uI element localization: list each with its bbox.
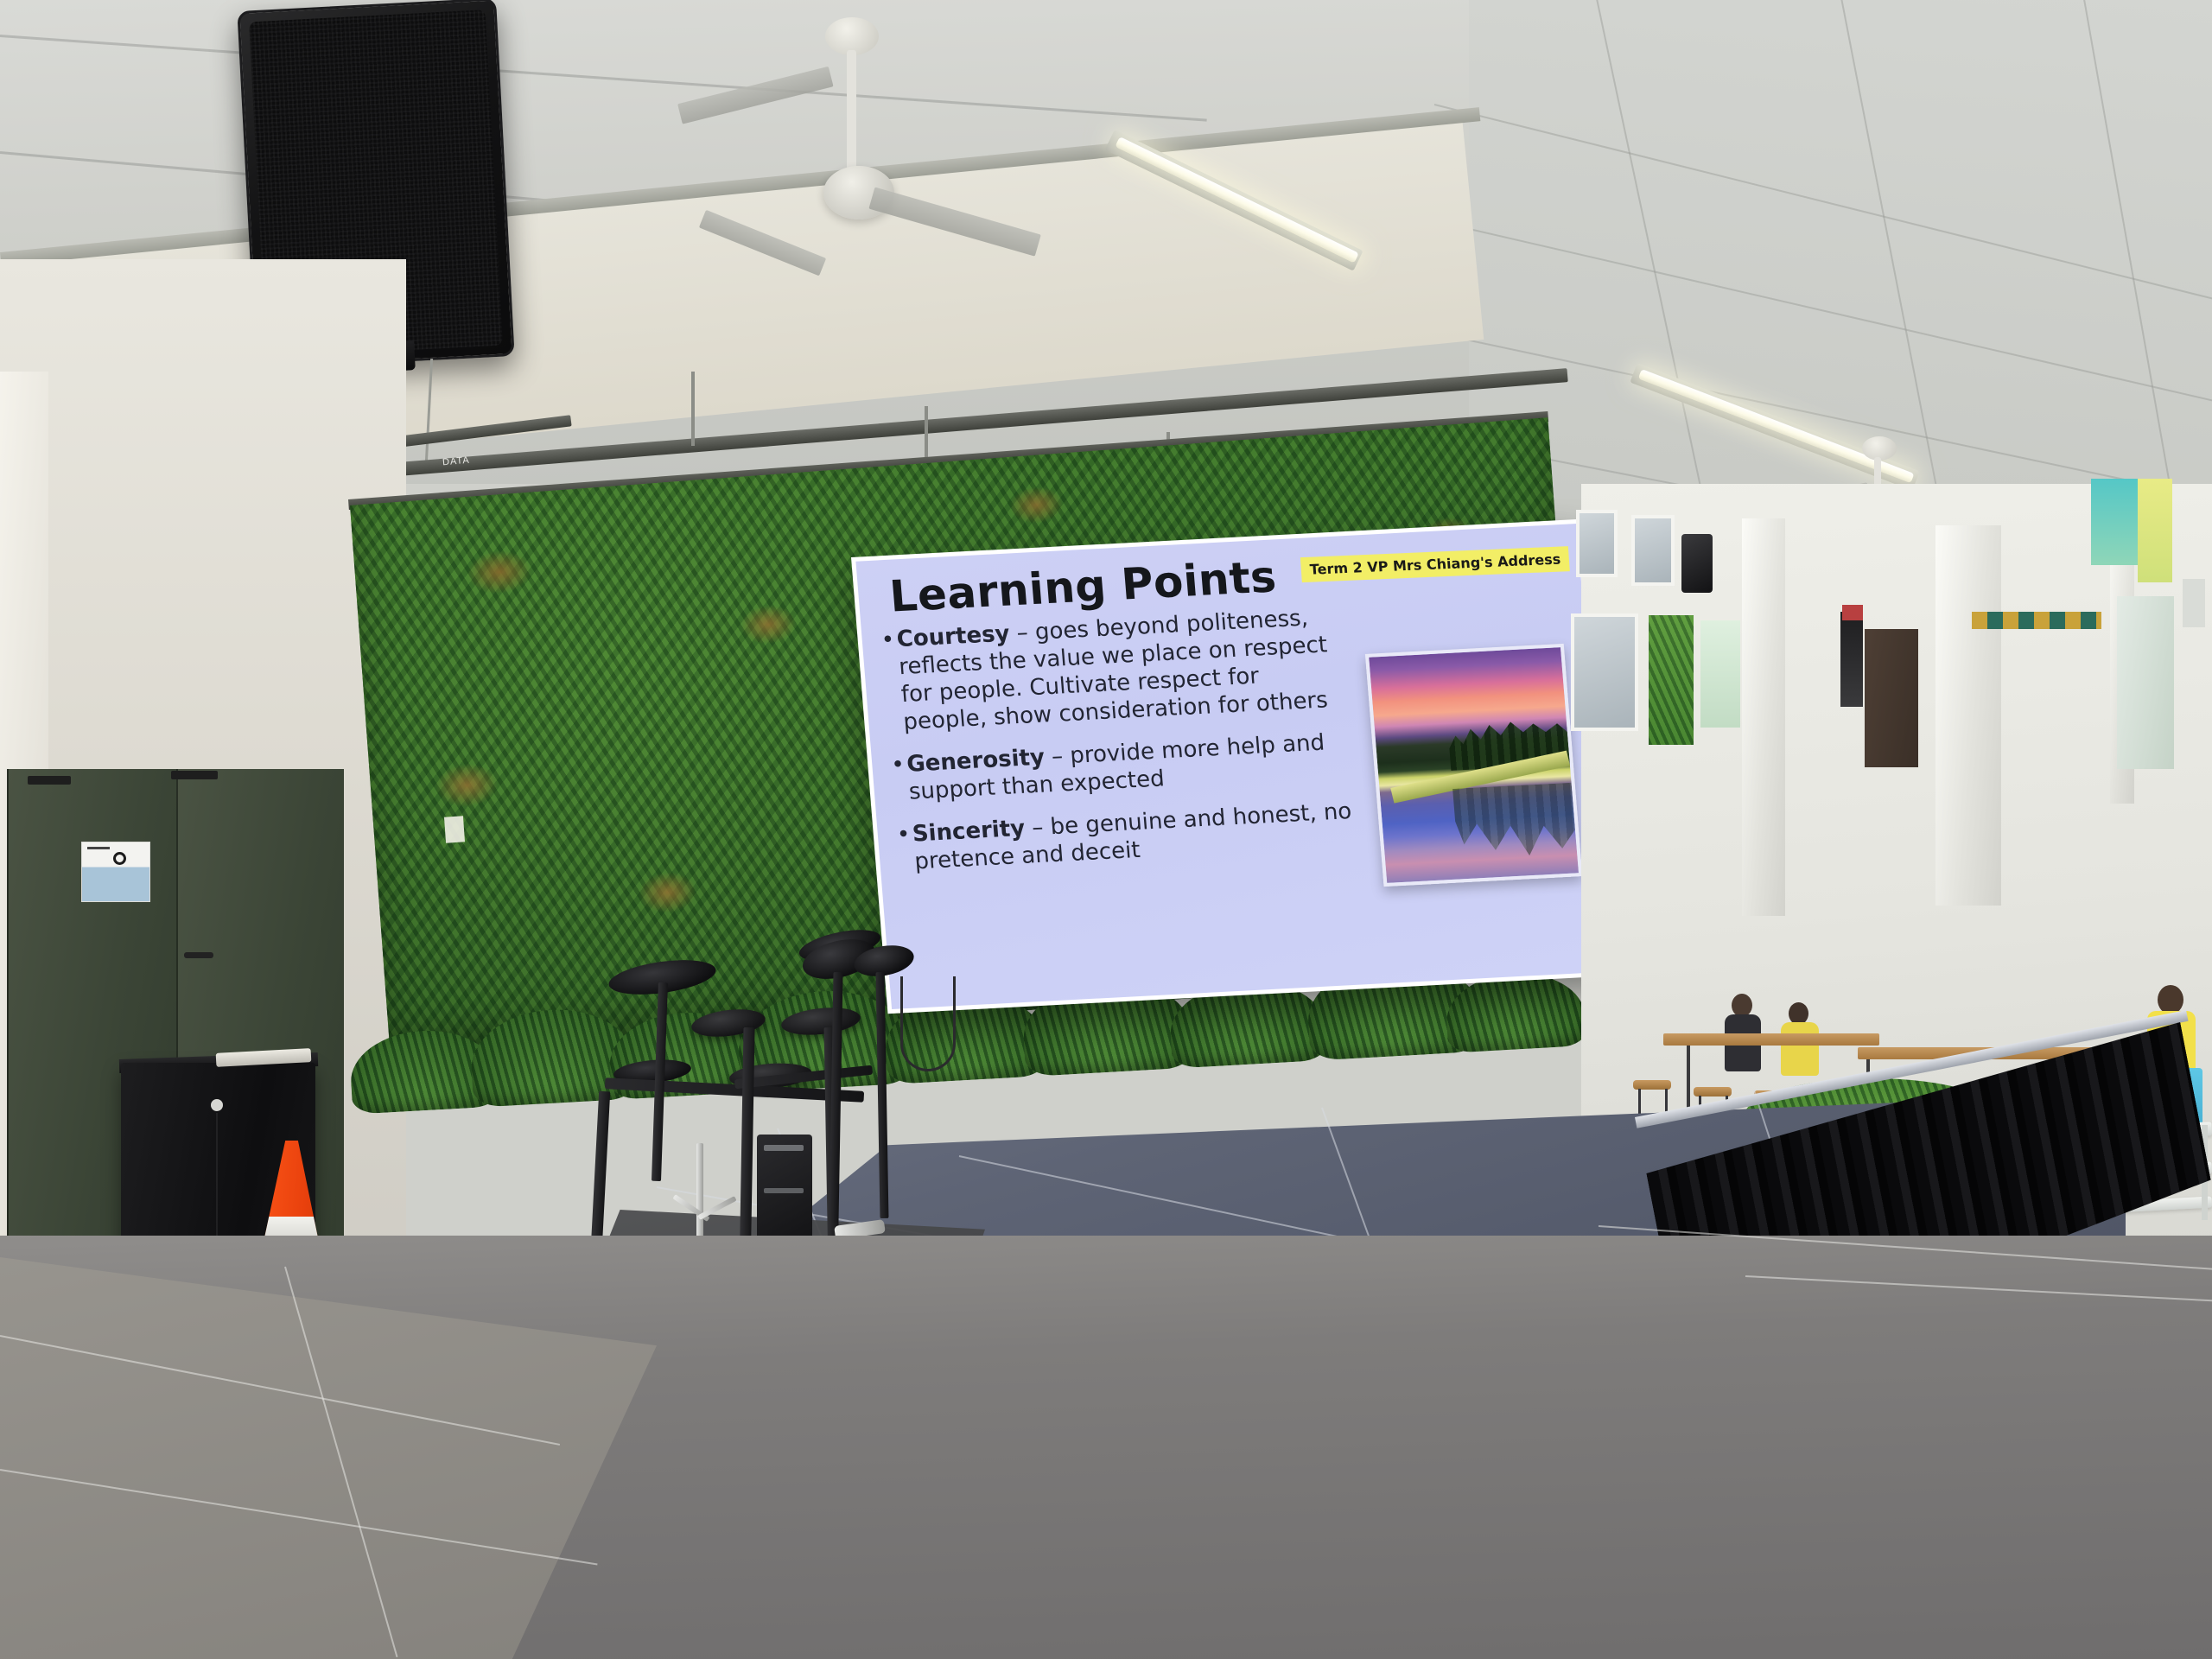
wall-poster [1840,612,1863,707]
door-notice-poster [81,842,150,902]
slide-photo-sunset-river [1365,644,1582,887]
slide-bullet: • Sincerity – be genuine and honest, no … [896,798,1358,877]
bar-table [1663,1033,1879,1046]
wall-notice [2183,579,2205,627]
wall-speaker [1681,534,1713,593]
bullet-dash: – [1044,743,1071,770]
door-closer [171,771,218,779]
wall-colour-band [2138,479,2172,582]
wall-picture-frame [1576,510,1618,577]
background-door[interactable] [2117,596,2174,769]
wall-panel [1700,620,1740,728]
hall-scene: ✳ DATA [0,0,2212,1659]
wall-artwork [1571,613,1638,731]
hihat-tripod-leg [697,1196,736,1220]
wall-colour-band [2091,479,2138,565]
conduit-hanger [691,372,695,446]
cabinet-knob[interactable] [211,1099,223,1111]
column [1742,518,1785,916]
door-closer [28,776,71,785]
green-wall-tag [444,816,465,842]
bullet-dash: – [1008,620,1036,646]
background-door[interactable] [1865,629,1918,767]
bullet-dash: – [1024,814,1052,841]
bullet-term: Sincerity [912,816,1027,848]
slide-bullet: • Generosity – provide more help and sup… [890,728,1352,807]
mic-stand-pole [876,972,889,1218]
bullet-term: Courtesy [896,621,1011,653]
slide-badge: Term 2 VP Mrs Chiang's Address [1300,546,1569,582]
mic-stand-pole [829,972,842,1223]
drum-tom-pad [690,1006,766,1040]
microphone-cable [900,976,956,1071]
checkerboard-tile-band [1972,612,2101,629]
column [1935,525,2001,906]
door-handle[interactable] [184,952,213,958]
wall-poster [1842,605,1863,620]
wall-picture-frame [1631,515,1675,586]
ceiling-fan [782,17,1076,276]
slide-bullet-list: • Courtesy – goes beyond politeness, ref… [880,604,1359,893]
wall-green-panel [1649,615,1694,745]
slide-bullet: • Courtesy – goes beyond politeness, ref… [880,604,1347,738]
hihat-stand [696,1143,703,1238]
presentation-slide: Learning Points Term 2 VP Mrs Chiang's A… [855,524,1612,1009]
